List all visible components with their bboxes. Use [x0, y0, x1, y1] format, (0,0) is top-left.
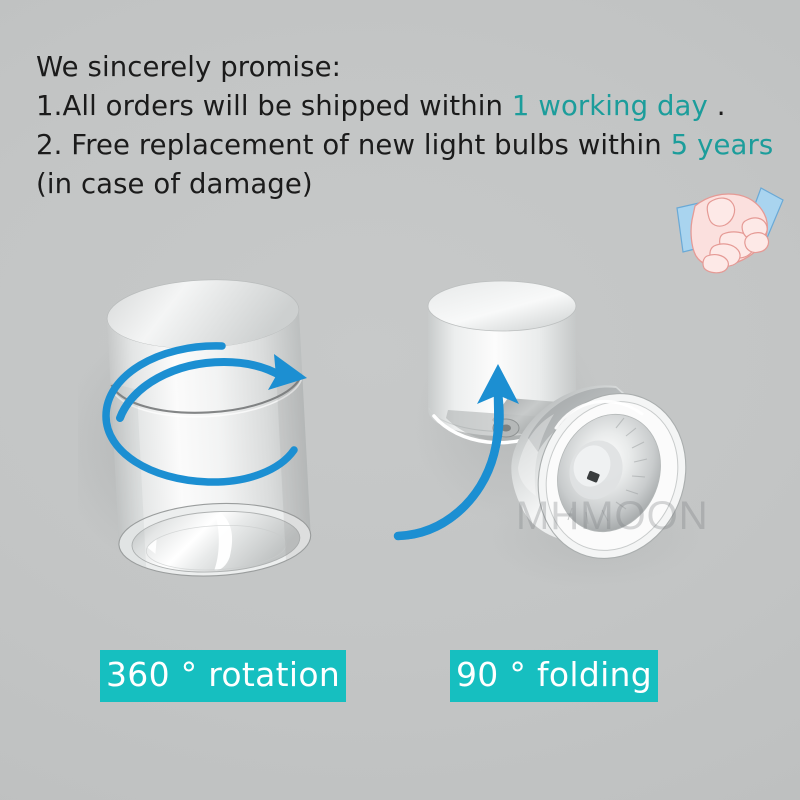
promise-heading: We sincerely promise:	[36, 48, 780, 87]
badge-90-folding: 90 ° folding	[450, 650, 658, 702]
promise-line-1-highlight: 1 working day	[512, 90, 708, 122]
promise-line-1-pre: 1.All orders will be shipped within	[36, 90, 512, 122]
lamp-90-folding	[388, 268, 708, 598]
promise-line-1-post: .	[708, 90, 726, 122]
promise-line-1: 1.All orders will be shipped within 1 wo…	[36, 87, 780, 126]
product-feature-image: We sincerely promise: 1.All orders will …	[0, 0, 800, 800]
promise-line-2-pre: 2. Free replacement of new light bulbs w…	[36, 129, 671, 161]
promise-line-2: 2. Free replacement of new light bulbs w…	[36, 126, 780, 165]
lamp-360-rotation	[78, 268, 338, 598]
badge-360-rotation: 360 ° rotation	[100, 650, 346, 702]
promise-line-2-highlight: 5 years	[671, 129, 774, 161]
